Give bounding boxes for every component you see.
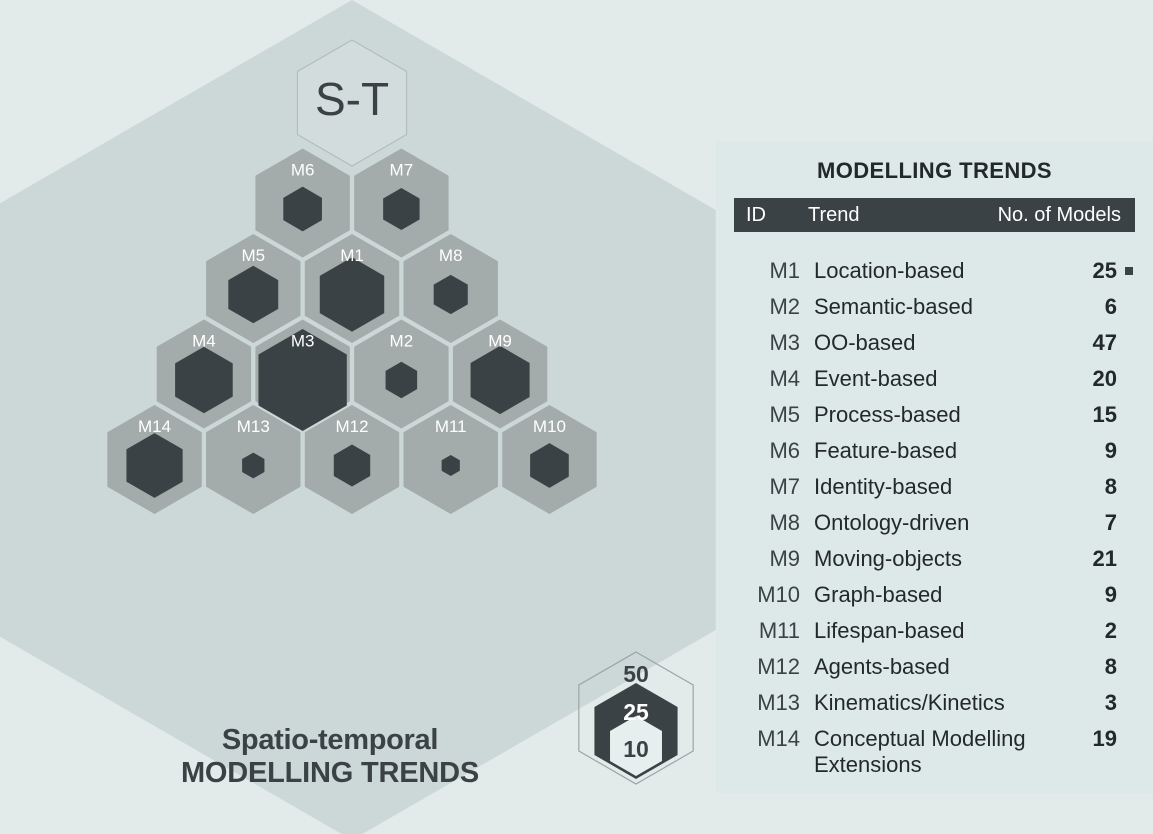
row-count: 8	[1065, 474, 1135, 500]
row-count: 47	[1065, 330, 1135, 356]
panel-title: MODELLING TRENDS	[716, 158, 1153, 184]
size-legend: 50 25 10	[556, 646, 716, 796]
row-id: M11	[734, 618, 814, 644]
row-id: M13	[734, 690, 814, 716]
column-header-trend: Trend	[808, 204, 998, 227]
hex-label-m3: M3	[291, 331, 315, 350]
row-id: M8	[734, 510, 814, 536]
row-id: M5	[734, 402, 814, 428]
table-row[interactable]: M12Agents-based8	[734, 654, 1135, 690]
table-row[interactable]: M8Ontology-driven7	[734, 510, 1135, 546]
row-id: M10	[734, 582, 814, 608]
row-trend: Semantic-based	[814, 294, 1065, 320]
row-count: 9	[1065, 582, 1135, 608]
hex-label-m7: M7	[390, 160, 414, 179]
table-row[interactable]: M9Moving-objects21	[734, 546, 1135, 582]
row-id: M12	[734, 654, 814, 680]
row-count: 19	[1065, 726, 1135, 752]
row-count: 21	[1065, 546, 1135, 572]
row-trend: Process-based	[814, 402, 1065, 428]
size-legend-svg: 50 25 10	[556, 646, 716, 796]
row-id: M6	[734, 438, 814, 464]
table-row[interactable]: M14Conceptual ModellingExtensions19	[734, 726, 1135, 798]
row-marker-square-icon	[1125, 267, 1133, 275]
row-count: 25	[1065, 258, 1135, 284]
row-id: M14	[734, 726, 814, 752]
row-trend: Moving-objects	[814, 546, 1065, 572]
hex-label-m4: M4	[192, 331, 216, 350]
row-count: 8	[1065, 654, 1135, 680]
row-trend: Lifespan-based	[814, 618, 1065, 644]
column-header-count: No. of Models	[998, 204, 1135, 227]
row-count: 15	[1065, 402, 1135, 428]
table-row[interactable]: M10Graph-based9	[734, 582, 1135, 618]
table-row[interactable]: M5Process-based15	[734, 402, 1135, 438]
row-count: 3	[1065, 690, 1135, 716]
row-count: 2	[1065, 618, 1135, 644]
hex-label-m14: M14	[138, 417, 171, 436]
row-count: 20	[1065, 366, 1135, 392]
row-trend: Conceptual ModellingExtensions	[814, 726, 1065, 778]
table-row[interactable]: M11Lifespan-based2	[734, 618, 1135, 654]
row-count: 9	[1065, 438, 1135, 464]
row-trend: Feature-based	[814, 438, 1065, 464]
hex-label-m13: M13	[237, 417, 270, 436]
hex-label-m11: M11	[435, 417, 467, 436]
row-trend: Location-based	[814, 258, 1065, 284]
table-row[interactable]: M3OO-based47	[734, 330, 1135, 366]
row-count: 7	[1065, 510, 1135, 536]
st-hexagon-label: S-T	[315, 73, 389, 125]
table-row[interactable]: M13Kinematics/Kinetics3	[734, 690, 1135, 726]
row-id: M9	[734, 546, 814, 572]
row-id: M1	[734, 258, 814, 284]
modelling-trends-panel: MODELLING TRENDS ID Trend No. of Models …	[716, 141, 1153, 793]
hex-label-m2: M2	[390, 331, 414, 350]
hex-label-m10: M10	[533, 417, 566, 436]
row-trend: Graph-based	[814, 582, 1065, 608]
hex-label-m5: M5	[241, 246, 265, 265]
hex-label-m1: M1	[340, 246, 364, 265]
table-row[interactable]: M2Semantic-based6	[734, 294, 1135, 330]
hex-label-m8: M8	[439, 246, 463, 265]
row-trend: Event-based	[814, 366, 1065, 392]
column-header-id: ID	[734, 204, 808, 227]
legend-value-50: 50	[623, 661, 649, 687]
table-row[interactable]: M6Feature-based9	[734, 438, 1135, 474]
infographic-page: S-T M6M7M5M1M8M4M3M2M9M14M13M12M11M10 Sp…	[0, 0, 1153, 834]
row-id: M4	[734, 366, 814, 392]
row-id: M7	[734, 474, 814, 500]
legend-value-25: 25	[623, 699, 649, 725]
row-id: M3	[734, 330, 814, 356]
row-trend: Agents-based	[814, 654, 1065, 680]
row-trend: Identity-based	[814, 474, 1065, 500]
table-header-row: ID Trend No. of Models	[734, 198, 1135, 232]
hex-label-m9: M9	[488, 331, 512, 350]
row-count: 6	[1065, 294, 1135, 320]
table-row[interactable]: M4Event-based20	[734, 366, 1135, 402]
row-trend: Ontology-driven	[814, 510, 1065, 536]
hex-label-m12: M12	[335, 417, 368, 436]
table-row[interactable]: M1Location-based25	[734, 258, 1135, 294]
row-trend-line-2: Extensions	[814, 752, 1065, 778]
row-id: M2	[734, 294, 814, 320]
hex-label-m6: M6	[291, 160, 315, 179]
table-body: M1Location-based25M2Semantic-based6M3OO-…	[734, 258, 1135, 798]
row-trend: Kinematics/Kinetics	[814, 690, 1065, 716]
row-trend: OO-based	[814, 330, 1065, 356]
table-row[interactable]: M7Identity-based8	[734, 474, 1135, 510]
legend-value-10: 10	[623, 736, 649, 762]
